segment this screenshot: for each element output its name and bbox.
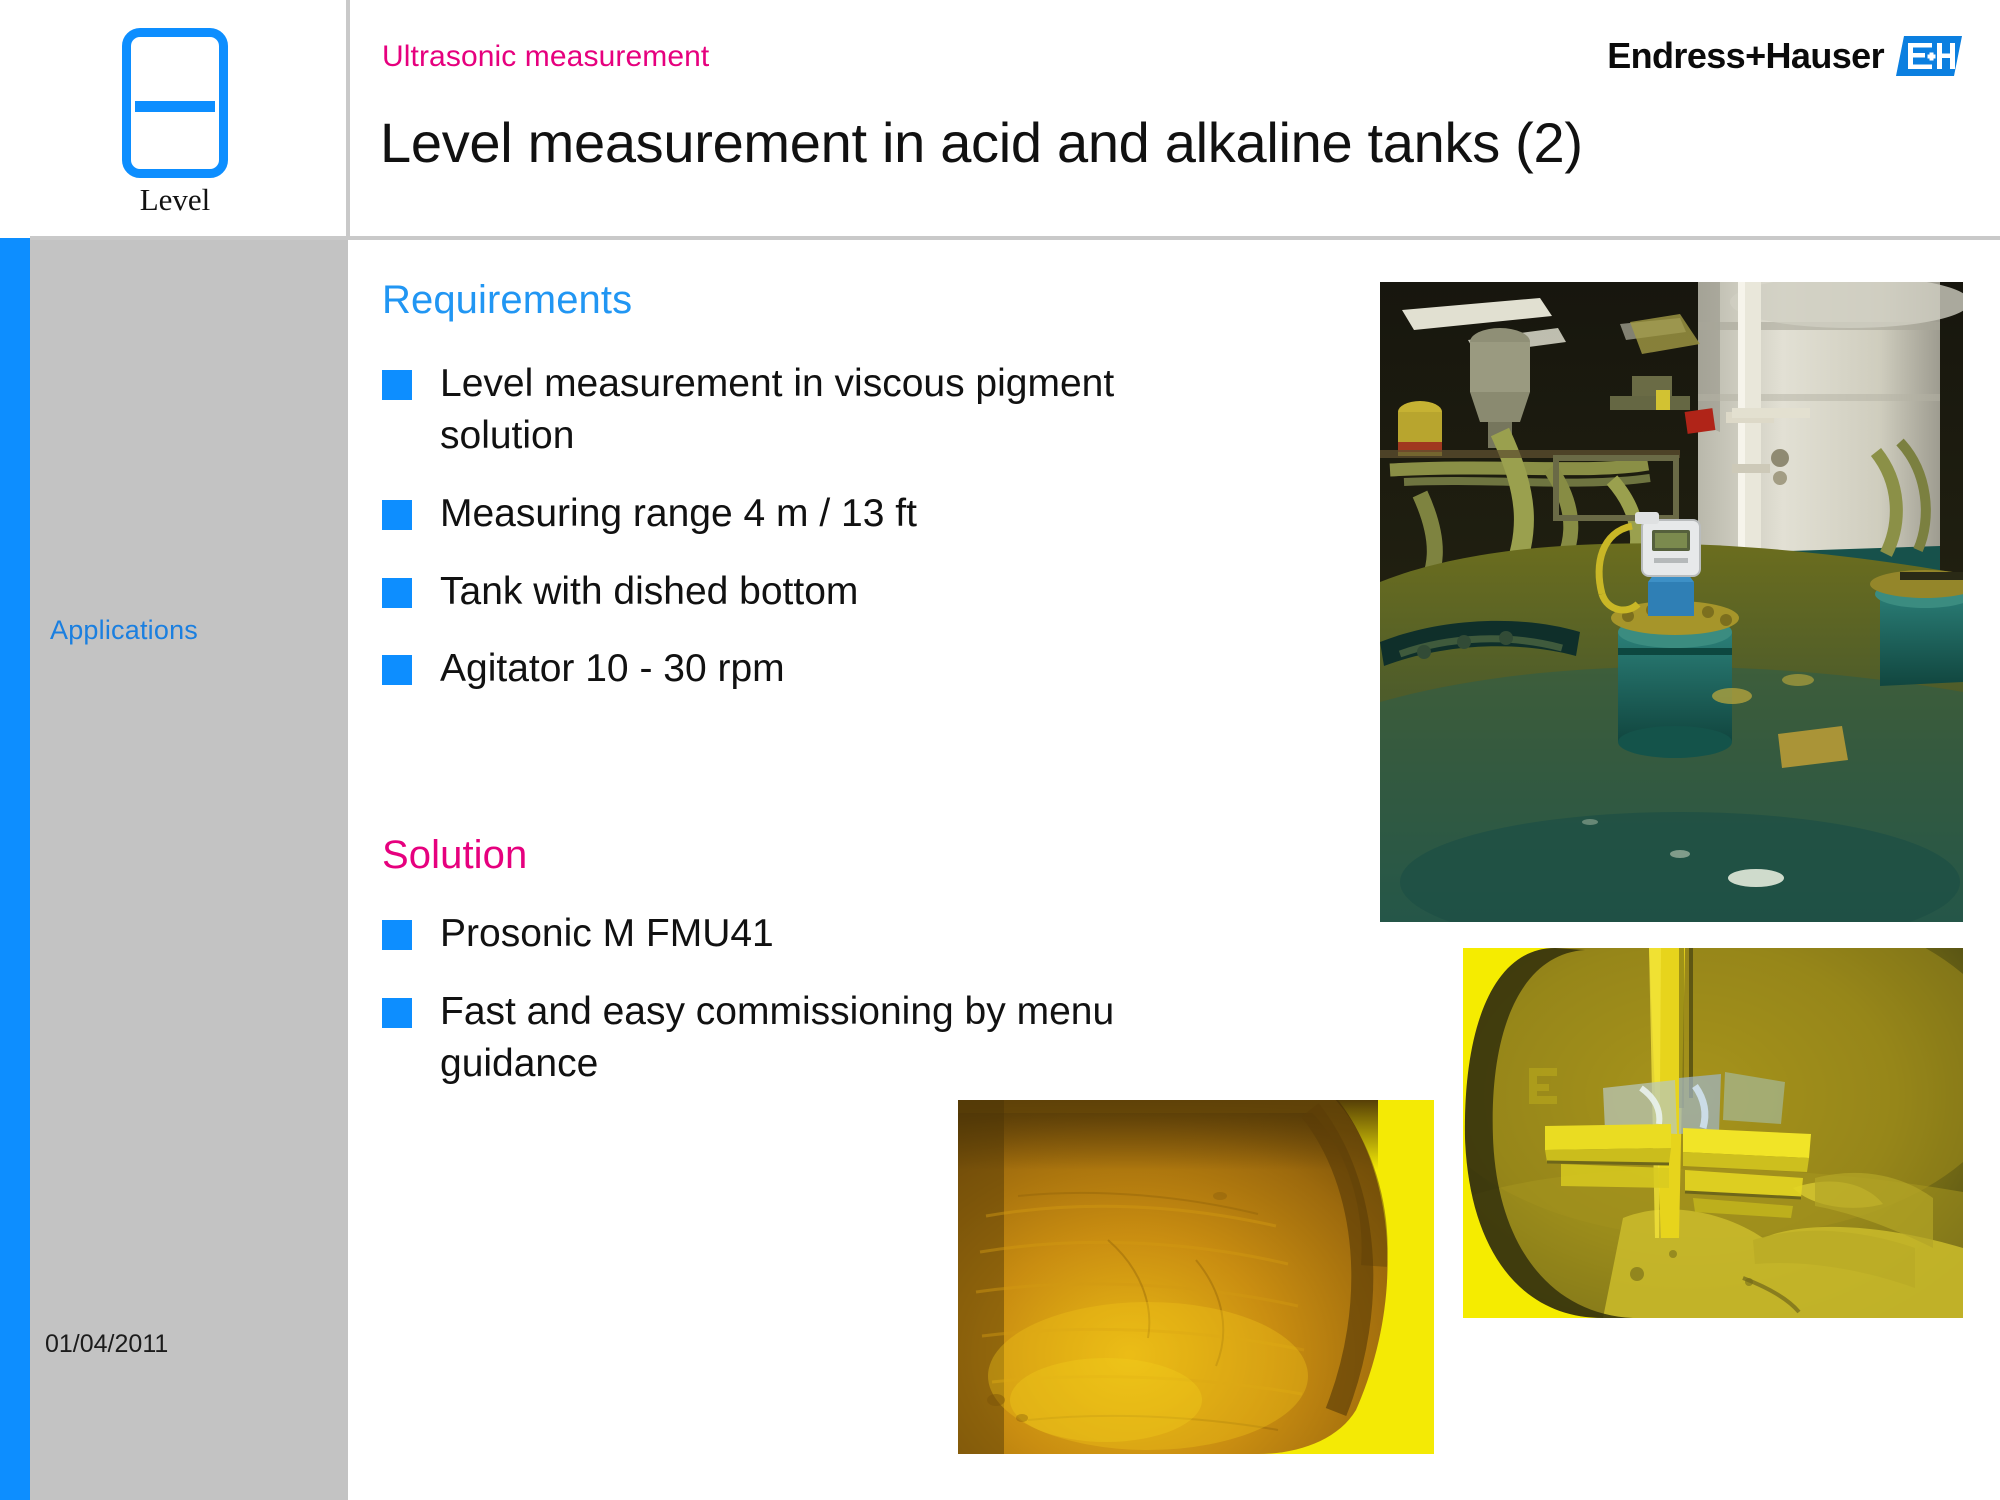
eh-logo-mark-icon (1896, 34, 1962, 78)
level-gauge-icon-line (135, 101, 215, 112)
list-item: Tank with dished bottom (382, 566, 1282, 618)
list-item: Agitator 10 - 30 rpm (382, 643, 1282, 695)
list-item: Prosonic M FMU41 (382, 908, 1282, 960)
bullet-square-icon (382, 655, 412, 685)
list-item-label: Tank with dished bottom (440, 566, 858, 618)
bullet-square-icon (382, 370, 412, 400)
list-item: Fast and easy commissioning by menu guid… (382, 986, 1282, 1090)
brand-logo: Endress+Hauser (1607, 34, 1962, 78)
tank-interior-agitator-photo (1463, 948, 1963, 1318)
header-divider-vertical (346, 0, 350, 238)
slide-canvas: Applications 01/04/2011 Level Ultrasonic… (0, 0, 2000, 1500)
list-item-label: Level measurement in viscous pigment sol… (440, 358, 1240, 462)
solution-bullet-list: Prosonic M FMU41 Fast and easy commissio… (382, 908, 1282, 1116)
list-item-label: Fast and easy commissioning by menu guid… (440, 986, 1240, 1090)
requirements-bullet-list: Level measurement in viscous pigment sol… (382, 358, 1282, 721)
bullet-square-icon (382, 500, 412, 530)
section-heading-solution: Solution (382, 833, 527, 878)
level-icon-block: Level (100, 28, 250, 215)
list-item: Measuring range 4 m / 13 ft (382, 488, 1282, 540)
header-eyebrow: Ultrasonic measurement (382, 40, 709, 74)
brand-wordmark: Endress+Hauser (1607, 38, 1884, 74)
bullet-square-icon (382, 920, 412, 950)
bullet-square-icon (382, 998, 412, 1028)
bullet-square-icon (382, 578, 412, 608)
viscous-pigment-closeup-photo (958, 1100, 1434, 1454)
page-title: Level measurement in acid and alkaline t… (380, 110, 1583, 175)
sidebar-panel (30, 238, 348, 1500)
list-item-label: Measuring range 4 m / 13 ft (440, 488, 917, 540)
list-item-label: Prosonic M FMU41 (440, 908, 774, 960)
tank-top-installation-photo (1380, 282, 1963, 922)
list-item: Level measurement in viscous pigment sol… (382, 358, 1282, 462)
level-gauge-icon (122, 28, 228, 178)
list-item-label: Agitator 10 - 30 rpm (440, 643, 785, 695)
level-icon-label: Level (100, 184, 250, 215)
slide-date: 01/04/2011 (45, 1330, 168, 1359)
sidebar-section-label: Applications (50, 615, 198, 646)
header-divider-horizontal (30, 236, 2000, 240)
section-heading-requirements: Requirements (382, 278, 632, 323)
